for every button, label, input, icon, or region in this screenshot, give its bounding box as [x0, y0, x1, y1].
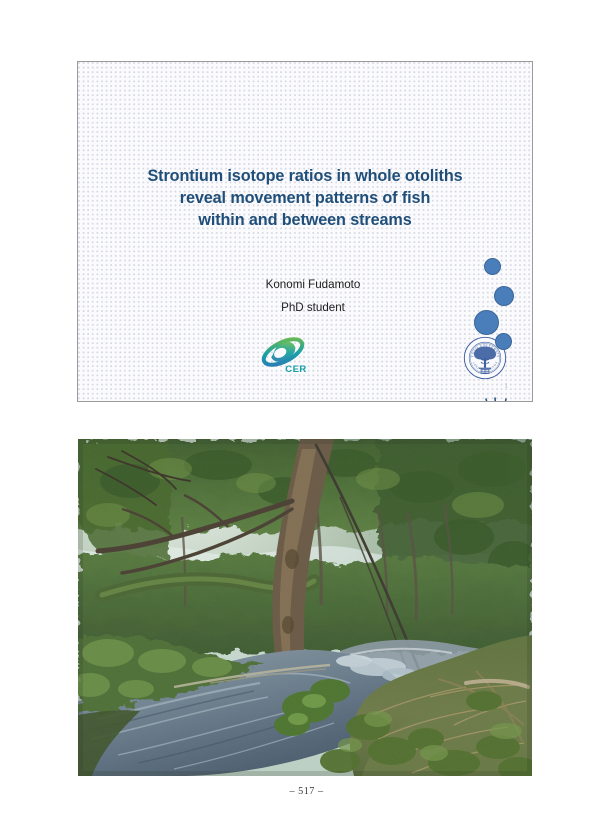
- document-page: Strontium isotope ratios in whole otolit…: [0, 0, 613, 840]
- author-block: Konomi Fudamoto PhD student: [238, 274, 388, 319]
- presentation-slide: Strontium isotope ratios in whole otolit…: [77, 61, 533, 402]
- slide-title: Strontium isotope ratios in whole otolit…: [78, 165, 532, 232]
- author-role: PhD student: [238, 297, 388, 320]
- slide-title-line-1: Strontium isotope ratios in whole otolit…: [92, 165, 518, 187]
- slide-title-line-3: within and between streams: [92, 209, 518, 231]
- page-number-footer: – 517 –: [0, 786, 613, 797]
- bubble-1-icon: [484, 258, 501, 275]
- bubble-4-icon: [495, 333, 512, 350]
- slide-title-line-2: reveal movement patterns of fish: [92, 187, 518, 209]
- svg-text:CER: CER: [285, 364, 307, 375]
- cer-logo-icon: CER: [260, 334, 312, 378]
- stream-in-forest-photo: [78, 439, 532, 776]
- fish-illustration-icon: [443, 395, 533, 402]
- bubble-3-icon: [474, 310, 499, 335]
- slide-number: 1: [504, 381, 508, 390]
- author-name: Konomi Fudamoto: [238, 274, 388, 297]
- bubble-2-icon: [494, 286, 514, 306]
